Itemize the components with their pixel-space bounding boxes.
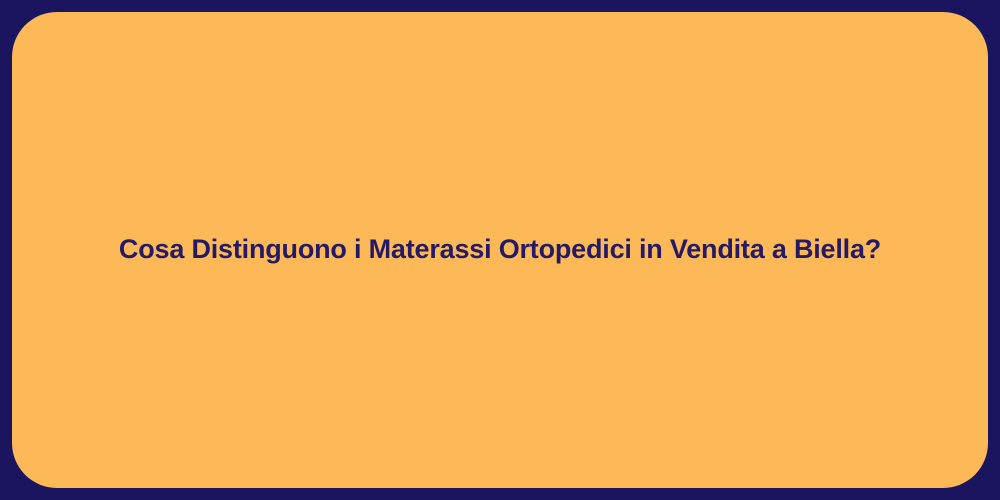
page-title: Cosa Distinguono i Materassi Ortopedici … — [12, 233, 988, 267]
banner-outer-frame: Cosa Distinguono i Materassi Ortopedici … — [0, 0, 1000, 500]
banner-panel: Cosa Distinguono i Materassi Ortopedici … — [12, 12, 988, 488]
